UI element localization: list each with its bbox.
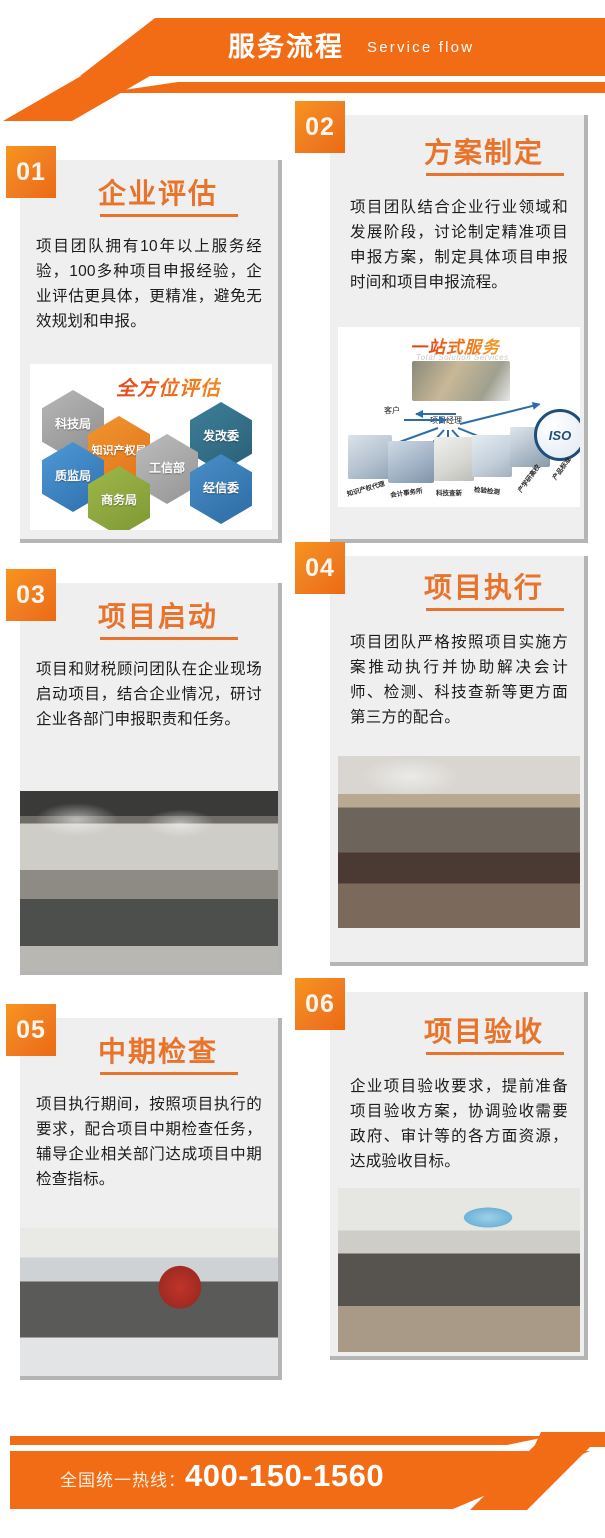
service-node-photo-3: [472, 435, 512, 477]
step-card-04: 04 项目执行 项目团队严格按照项目实施方案推动执行并协助解决会计师、检测、科技…: [330, 556, 588, 966]
service-node-label-3: 检验检测: [474, 484, 501, 497]
step-title-01: 企业评估: [98, 172, 218, 212]
showroom-site-visit-photo: [20, 1228, 278, 1376]
service-node-label-2: 科技查新: [436, 487, 462, 497]
step-title-rule-06: [426, 1052, 564, 1055]
service-node-photo-0: [348, 435, 392, 479]
step-title-rule-02: [426, 173, 564, 176]
step-title-03: 项目启动: [98, 595, 218, 635]
step-title-06: 项目验收: [424, 1010, 544, 1050]
step-title-02: 方案制定: [424, 131, 544, 171]
step-number-badge-05: 05: [6, 1004, 56, 1056]
footer-orange-stripe: [10, 1436, 590, 1445]
conference-room-kickoff-meeting-photo: [20, 791, 278, 971]
step-title-rule-03: [100, 637, 238, 640]
service-node-label-0: 知识产权代理: [345, 478, 385, 498]
service-arrow-manager: [404, 419, 446, 421]
service-arrow-right-1: [460, 403, 540, 425]
service-client-label: 客户: [384, 405, 400, 416]
one-stop-service-diagram: 一站式服务 Total Solution Services 客户 项目经理 IS…: [338, 327, 580, 507]
step-title-rule-04: [426, 608, 564, 611]
step-body-06: 企业项目验收要求，提前准备项目验收方案，协调验收需要政府、审计等的各方面资源，达…: [350, 1074, 568, 1174]
step-title-rule-05: [100, 1072, 238, 1075]
hexagon-node-5: 经信委: [190, 454, 252, 524]
step-number-badge-04: 04: [295, 542, 345, 594]
comprehensive-assessment-hexagon-diagram: 全方位评估 科技局 知识产权局 发改委 质监局 工信部 经信委 商务局: [30, 364, 272, 530]
acceptance-review-meeting-photo: [338, 1188, 580, 1352]
hotline-phone-number[interactable]: 400-150-1560: [185, 1458, 384, 1494]
step-number-badge-02: 02: [295, 101, 345, 153]
step-card-02: 02 方案制定 项目团队结合企业行业领域和发展阶段，讨论制定精准项目申报方案，制…: [330, 115, 588, 543]
step-number-badge-06: 06: [295, 978, 345, 1030]
service-node-label-1: 会计事务所: [389, 485, 423, 499]
service-center-meeting-photo: [412, 361, 510, 401]
step-card-01: 01 企业评估 项目团队拥有10年以上服务经验，100多种项目申报经验，企业评估…: [20, 160, 282, 543]
team-working-session-laptops-photo: [338, 756, 580, 928]
step-title-04: 项目执行: [424, 566, 544, 606]
service-node-photo-2: [434, 437, 474, 481]
iso-certification-badge: ISO: [534, 409, 580, 461]
step-card-05: 05 中期检查 项目执行期间，按照项目执行的要求，配合项目中期检查任务，辅导企业…: [20, 1018, 282, 1380]
step-card-03: 03 项目启动 项目和财税顾问团队在企业现场启动项目，结合企业情况，研讨企业各部…: [20, 583, 282, 975]
step-body-02: 项目团队结合企业行业领域和发展阶段，讨论制定精准项目申报方案，制定具体项目申报时…: [350, 195, 568, 295]
service-arrow-client: [416, 413, 456, 415]
step-title-05: 中期检查: [98, 1030, 218, 1070]
hotline-label: 全国统一热线：: [60, 1466, 186, 1491]
page-footer: 全国统一热线： 400-150-1560: [0, 1388, 605, 1538]
step-body-05: 项目执行期间，按照项目执行的要求，配合项目中期检查任务，辅导企业相关部门达成项目…: [36, 1092, 262, 1192]
step-number-badge-03: 03: [6, 569, 56, 621]
step-body-03: 项目和财税顾问团队在企业现场启动项目，结合企业情况，研讨企业各部门申报职责和任务…: [36, 657, 262, 732]
step-body-04: 项目团队严格按照项目实施方案推动执行并协助解决会计师、检测、科技查新等更方面第三…: [350, 630, 568, 730]
service-node-photo-1: [388, 441, 434, 483]
page-subtitle: Service flow: [367, 36, 474, 60]
step-title-rule-01: [100, 214, 238, 217]
step-number-badge-01: 01: [6, 146, 56, 198]
hexagon-diagram-title: 全方位评估: [116, 372, 221, 401]
step-body-01: 项目团队拥有10年以上服务经验，100多种项目申报经验，企业评估更具体，更精准，…: [36, 234, 262, 334]
step-card-06: 06 项目验收 企业项目验收要求，提前准备项目验收方案，协调验收需要政府、审计等…: [330, 992, 588, 1360]
page-title: 服务流程: [228, 27, 344, 67]
